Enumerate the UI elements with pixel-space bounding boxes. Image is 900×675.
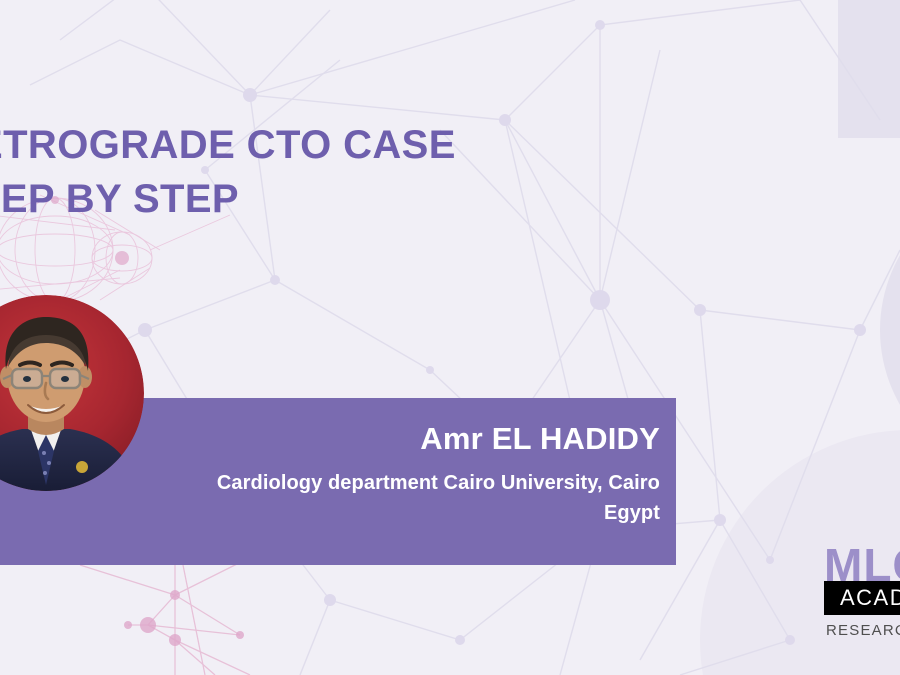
logo-subtitle: RESEARCH	[824, 622, 900, 639]
logo-academy-text: ACAD	[840, 585, 900, 611]
network-pattern-graphic	[0, 0, 900, 675]
slide-title: ETROGRADE CTO CASE TEP BY STEP	[0, 118, 620, 226]
speaker-country: Egypt	[0, 498, 660, 528]
title-line-1: ETROGRADE CTO CASE	[0, 118, 620, 172]
presentation-slide: ETROGRADE CTO CASE TEP BY STEP Amr EL HA…	[0, 0, 900, 675]
brand-logo: MLC ACAD RESEARCH	[824, 543, 900, 639]
logo-wordmark: MLC	[824, 543, 900, 587]
title-line-2: TEP BY STEP	[0, 172, 620, 226]
